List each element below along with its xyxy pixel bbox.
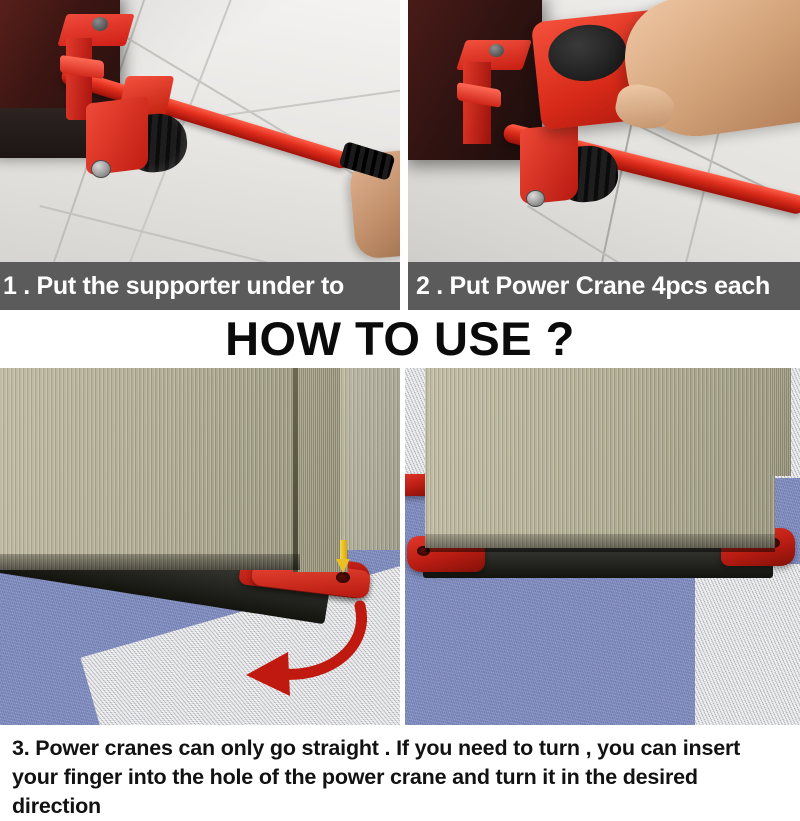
arrow-shaft xyxy=(340,540,347,561)
roller-axle-bolt xyxy=(91,160,111,178)
roller-assembly xyxy=(86,72,198,188)
arrow-head xyxy=(336,559,350,573)
caption-step-3: 3. Power cranes can only go straight . I… xyxy=(0,728,800,800)
hook-bolt xyxy=(92,17,108,31)
roller-axle-bolt xyxy=(526,190,545,207)
cabinet-bottom-shade xyxy=(0,554,300,570)
photo-step-3-right xyxy=(405,368,800,725)
photo-step-2 xyxy=(408,0,800,262)
how-to-use-infographic: 1 . Put the supporter under to 2 . Put P… xyxy=(0,0,800,800)
cabinet-front-panel xyxy=(0,368,300,570)
cabinet-back-panel xyxy=(340,368,400,550)
roller-assembly xyxy=(520,112,630,212)
hook-bolt xyxy=(489,44,504,57)
cabinet-bottom-shade xyxy=(425,534,775,552)
cabinet-corner-edge xyxy=(293,368,298,572)
photo-step-3-left xyxy=(0,368,400,725)
insert-finger-arrow-icon xyxy=(336,540,350,574)
caption-step-1: 1 . Put the supporter under to xyxy=(0,262,400,310)
rotation-arrow-icon xyxy=(210,586,390,706)
page-title: HOW TO USE ? xyxy=(0,310,800,366)
white-carpet-tile xyxy=(695,564,800,725)
slider-rubber-pad xyxy=(546,21,629,85)
photo-step-1 xyxy=(0,0,400,262)
caption-step-2: 2 . Put Power Crane 4pcs each xyxy=(408,262,800,310)
cabinet-front-panel xyxy=(425,368,775,548)
cabinet-side-panel xyxy=(771,368,791,476)
